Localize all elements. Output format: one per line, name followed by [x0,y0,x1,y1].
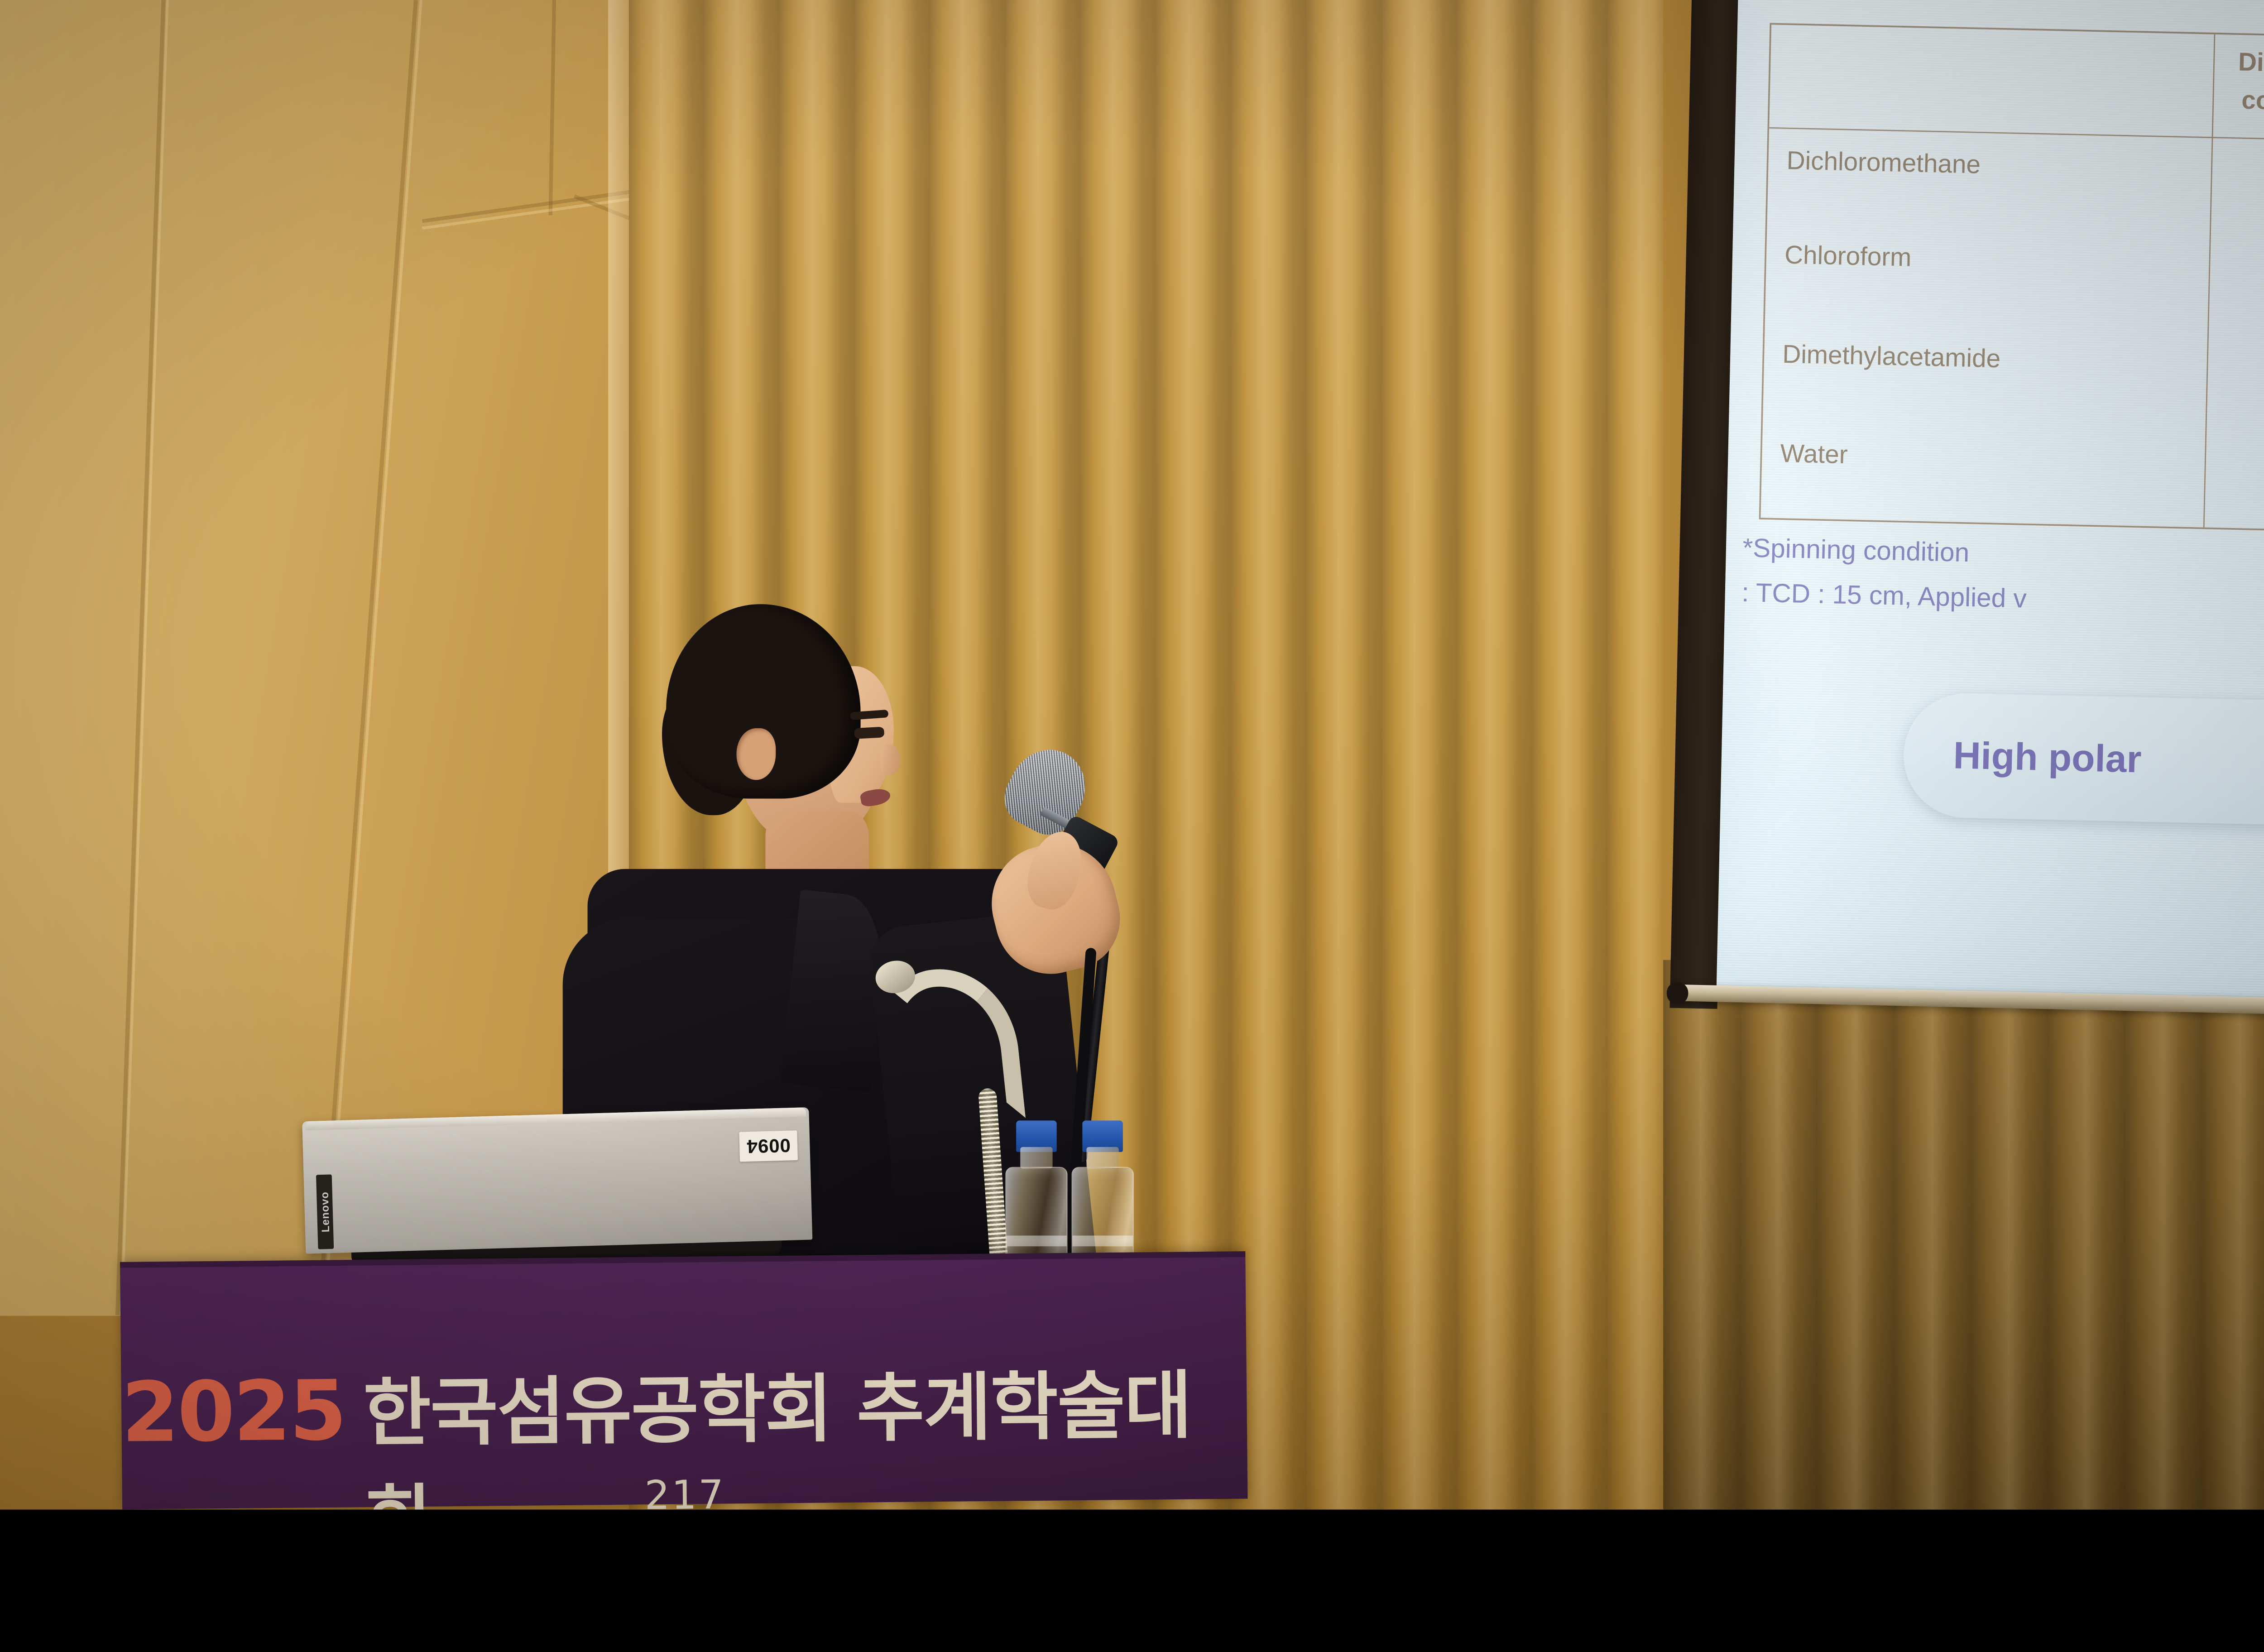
wall-seam [549,0,556,215]
wall-seam-highlight [323,0,422,1312]
slide-callout-text: High polar [1903,733,2142,781]
slide-note-tcd-voltage: : TCD : 15 cm, Applied v [1741,577,2027,614]
bottle-label [1072,1235,1132,1246]
table-cell-solvent-1: Dichloromethane [1786,146,1981,179]
table-cell-solvent-4: Water [1780,439,1848,470]
banner-year: 2025 [121,1363,345,1461]
table-cell-solvent-2: Chloroform [1784,240,1912,272]
lenovo-logo-text: Lenovo [318,1191,332,1233]
presenter-nose [880,744,900,775]
asset-tag-sticker: 0094 [739,1130,798,1162]
projection-screen: High so Dichloromethane Chloroform Dimet… [1644,0,2264,1049]
bottle-neck [1020,1147,1052,1169]
bottle-neck [1086,1147,1118,1169]
presenter-eye [854,727,884,739]
conference-photo-scene: High so Dichloromethane Chloroform Dimet… [0,0,2264,1509]
podium-banner: 2025 한국섬유공학회 추계학술대회 217 [120,1251,1248,1509]
presenter-ear [736,728,776,780]
presenter-laptop[interactable]: Lenovo 0094 [302,1107,831,1266]
presentation-slide: High so Dichloromethane Chloroform Dimet… [1717,0,2264,999]
table-column-divider [2203,34,2216,528]
table-header-divider [1769,127,2264,141]
table-cell-solvent-3: Dimethylacetamide [1782,340,2001,374]
lenovo-logo: Lenovo [316,1174,334,1249]
table-header-right-line1: Di [2238,47,2264,77]
wall-seam [317,0,418,1313]
bottle-label [1006,1235,1066,1246]
wall-seam [115,0,166,1315]
slide-note-spinning-condition: *Spinning condition [1742,532,1970,568]
slide-callout-pill: High polar [1902,692,2264,827]
projected-slide-surface: High so Dichloromethane Chloroform Dimet… [1717,0,2264,999]
asset-tag-number: 0094 [746,1134,791,1158]
laptop-lid: Lenovo 0094 [302,1107,812,1254]
wall-seam-highlight [120,0,169,1315]
solvent-table: Dichloromethane Chloroform Dimethylaceta… [1759,23,2264,533]
table-header-right-line2: co [2241,86,2264,115]
